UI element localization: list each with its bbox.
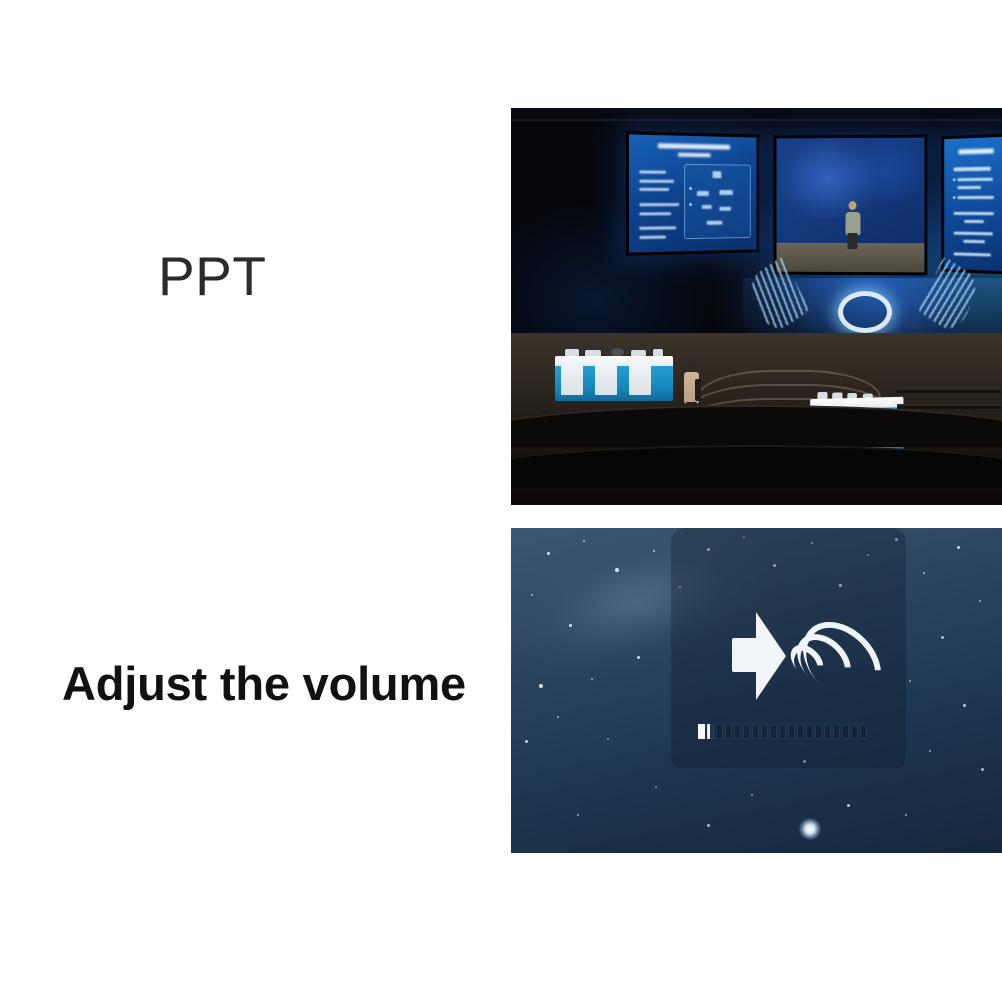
volume-segment[interactable] bbox=[842, 724, 849, 739]
volume-segment[interactable] bbox=[734, 724, 741, 739]
volume-segment[interactable] bbox=[752, 724, 759, 739]
presenter-figure bbox=[844, 201, 861, 248]
projection-screen-center bbox=[776, 138, 924, 273]
volume-segment[interactable] bbox=[833, 724, 840, 739]
lighting-truss bbox=[511, 119, 1002, 121]
volume-segment[interactable] bbox=[824, 724, 831, 739]
volume-osd-photo bbox=[511, 528, 1002, 853]
halo-ring-graphic bbox=[838, 291, 892, 333]
stage-front-edge bbox=[511, 405, 1002, 447]
speaker-wave-icon bbox=[732, 610, 870, 702]
volume-segment[interactable] bbox=[716, 724, 723, 739]
volume-segment[interactable] bbox=[743, 724, 750, 739]
feature-label-ppt: PPT bbox=[158, 249, 266, 304]
projection-screen-right bbox=[944, 137, 1002, 271]
volume-segment[interactable] bbox=[815, 724, 822, 739]
volume-segment[interactable] bbox=[770, 724, 777, 739]
volume-segment[interactable] bbox=[788, 724, 795, 739]
feature-label-volume: Adjust the volume bbox=[62, 660, 466, 707]
volume-segment[interactable] bbox=[698, 724, 705, 739]
volume-segment[interactable] bbox=[707, 724, 714, 739]
volume-segment[interactable] bbox=[797, 724, 804, 739]
volume-segment[interactable] bbox=[725, 724, 732, 739]
volume-segment[interactable] bbox=[851, 724, 858, 739]
conference-stage-photo bbox=[511, 108, 1002, 505]
demo-table-main bbox=[555, 356, 673, 401]
volume-segment[interactable] bbox=[860, 724, 867, 739]
volume-segment[interactable] bbox=[761, 724, 768, 739]
page-root: PPT Adjust the volume bbox=[0, 0, 1002, 1002]
stage-rail-lower bbox=[897, 404, 1001, 409]
projection-screen-left bbox=[629, 134, 757, 252]
volume-segment[interactable] bbox=[806, 724, 813, 739]
stage-rail bbox=[897, 388, 1001, 393]
volume-segment[interactable] bbox=[779, 724, 786, 739]
stage-front-edge-lower bbox=[511, 445, 1002, 487]
bright-star bbox=[799, 818, 821, 840]
stage-scene bbox=[511, 108, 1002, 505]
volume-level-bar[interactable] bbox=[698, 724, 867, 739]
